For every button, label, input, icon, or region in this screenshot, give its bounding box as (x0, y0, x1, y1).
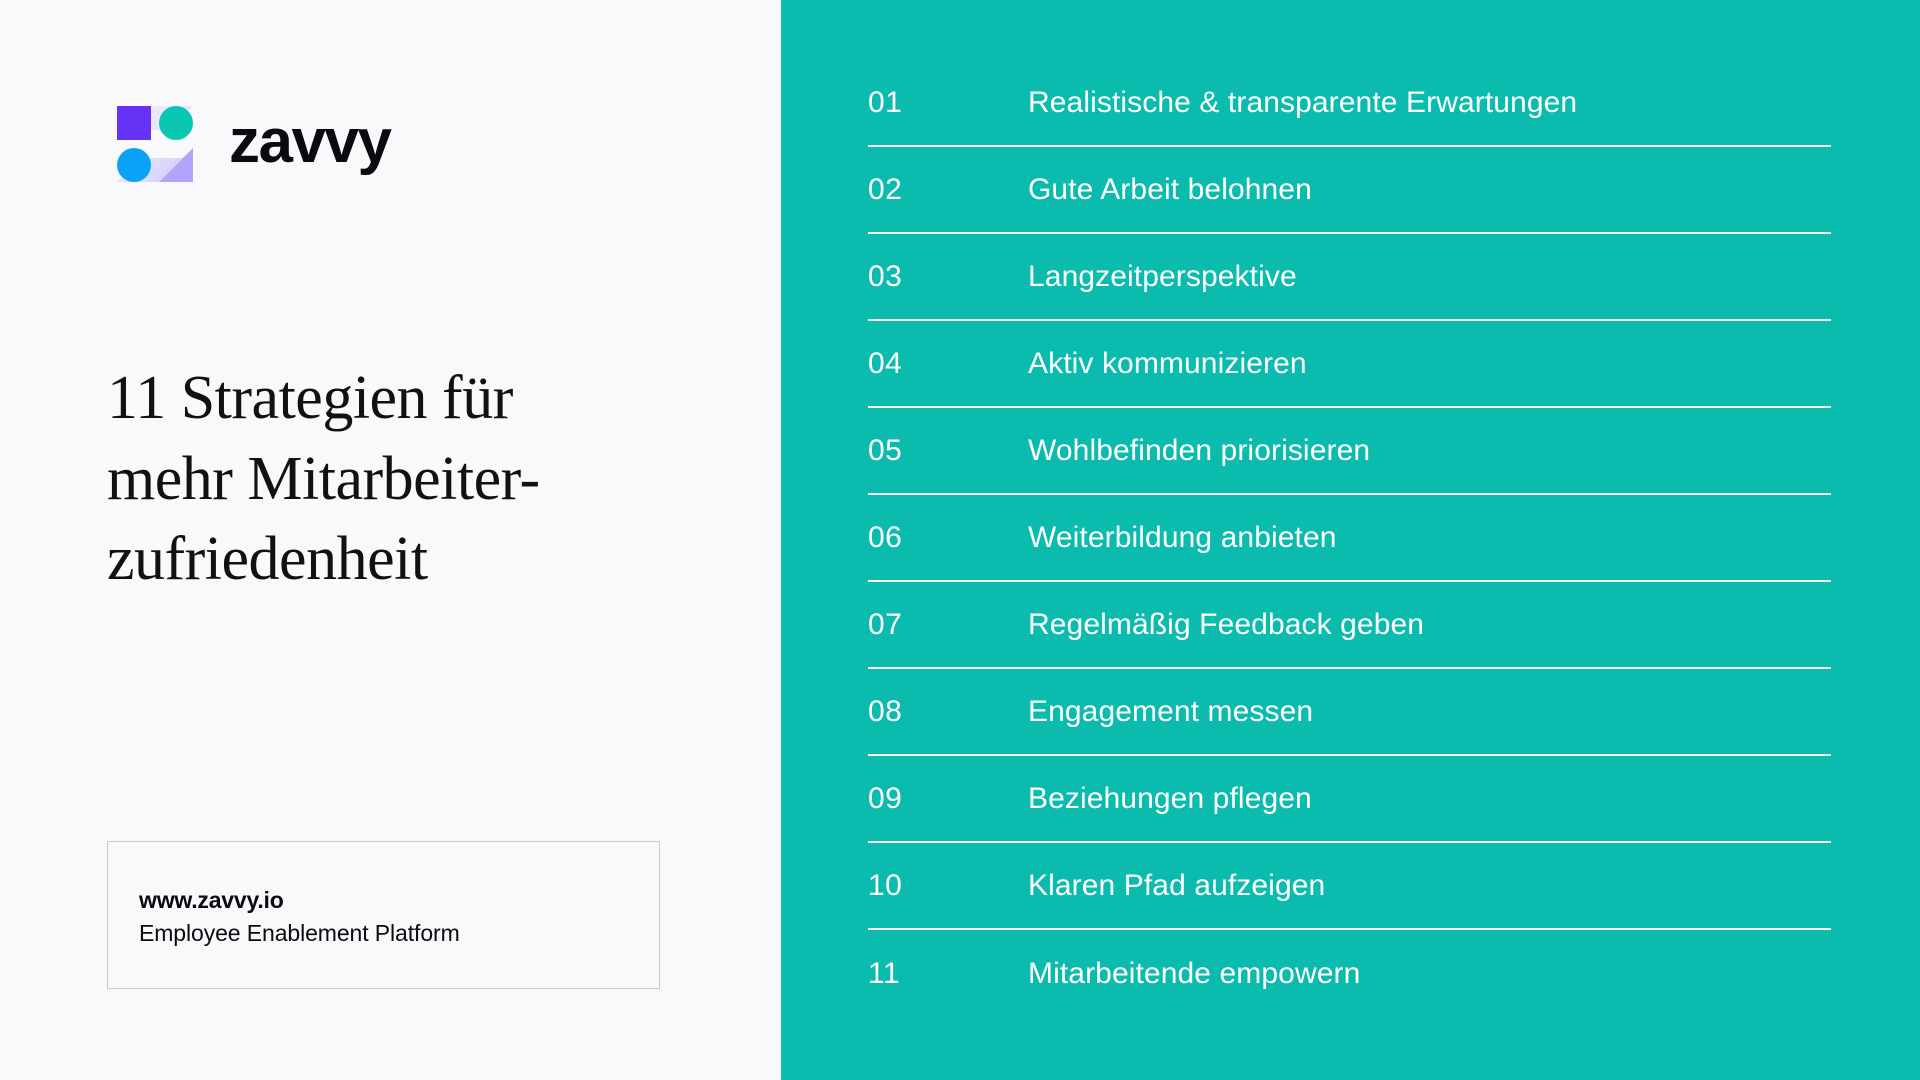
list-item-number: 07 (868, 608, 1028, 642)
list-item-number: 03 (868, 260, 1028, 294)
list-item-number: 01 (868, 86, 1028, 120)
list-item: 02 Gute Arbeit belohnen (868, 147, 1831, 234)
list-item-number: 02 (868, 173, 1028, 207)
list-item-label: Klaren Pfad aufzeigen (1028, 869, 1325, 903)
footer-website-url[interactable]: www.zavvy.io (139, 884, 659, 917)
list-item-number: 11 (868, 957, 1028, 991)
list-item-number: 04 (868, 347, 1028, 381)
footer-info-box: www.zavvy.io Employee Enablement Platfor… (107, 841, 660, 989)
list-item: 01 Realistische & transparente Erwartung… (868, 60, 1831, 147)
list-item: 05 Wohlbefinden priorisieren (868, 408, 1831, 495)
right-teal-panel: 01 Realistische & transparente Erwartung… (781, 0, 1920, 1080)
page-title: 11 Strategien für mehr Mitarbeiter- zufr… (107, 358, 667, 600)
list-item-label: Gute Arbeit belohnen (1028, 173, 1312, 207)
zavvy-z-logomark-icon (107, 96, 203, 192)
list-item-label: Wohlbefinden priorisieren (1028, 434, 1370, 468)
headline-line-3: zufriedenheit (107, 525, 428, 593)
footer-tagline: Employee Enablement Platform (139, 917, 659, 950)
list-item-number: 09 (868, 782, 1028, 816)
headline-line-2: mehr Mitarbeiter- (107, 445, 540, 513)
list-item-label: Regelmäßig Feedback geben (1028, 608, 1424, 642)
brand-lockup: zavvy (107, 96, 390, 192)
list-item-label: Aktiv kommunizieren (1028, 347, 1307, 381)
list-item: 08 Engagement messen (868, 669, 1831, 756)
list-item: 10 Klaren Pfad aufzeigen (868, 843, 1831, 930)
left-panel: zavvy 11 Strategien für mehr Mitarbeiter… (0, 0, 781, 1080)
list-item-number: 10 (868, 869, 1028, 903)
list-item: 11 Mitarbeitende empowern (868, 930, 1831, 1017)
list-item-label: Weiterbildung anbieten (1028, 521, 1337, 555)
list-item: 07 Regelmäßig Feedback geben (868, 582, 1831, 669)
list-item-label: Mitarbeitende empowern (1028, 957, 1360, 991)
slide-root: zavvy 11 Strategien für mehr Mitarbeiter… (0, 0, 1920, 1080)
strategy-list: 01 Realistische & transparente Erwartung… (868, 60, 1831, 1017)
brand-wordmark: zavvy (229, 111, 390, 177)
list-item-label: Realistische & transparente Erwartungen (1028, 86, 1577, 120)
list-item: 04 Aktiv kommunizieren (868, 321, 1831, 408)
list-item-label: Engagement messen (1028, 695, 1313, 729)
list-item-number: 05 (868, 434, 1028, 468)
list-item: 06 Weiterbildung anbieten (868, 495, 1831, 582)
list-item-label: Beziehungen pflegen (1028, 782, 1312, 816)
list-item-number: 06 (868, 521, 1028, 555)
list-item-number: 08 (868, 695, 1028, 729)
list-item-label: Langzeitperspektive (1028, 260, 1297, 294)
list-item: 09 Beziehungen pflegen (868, 756, 1831, 843)
list-item: 03 Langzeitperspektive (868, 234, 1831, 321)
headline-line-1: 11 Strategien für (107, 364, 513, 432)
